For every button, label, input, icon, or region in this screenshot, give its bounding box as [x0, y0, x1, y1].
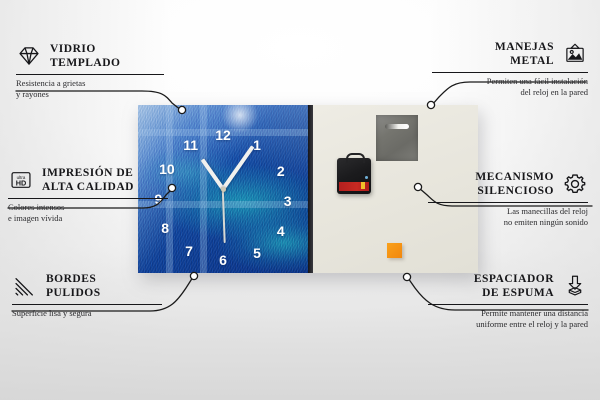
- clock-hour-hand: [201, 158, 225, 190]
- callout-divider: [432, 72, 588, 73]
- callout-title: IMPRESIÓN DE ALTA CALIDAD: [42, 166, 134, 195]
- movement-indicator-dot: [365, 176, 368, 179]
- hanger-slot: [385, 124, 409, 129]
- leader-endpoint-bordes: [190, 272, 197, 279]
- callout-subtitle: Permiten una fácil instalación del reloj…: [432, 76, 588, 99]
- polished-edge-lines-icon: [12, 273, 38, 299]
- callout-subtitle: Las manecillas del reloj no emiten ningú…: [428, 206, 588, 229]
- diamond-icon: [16, 43, 42, 69]
- callout-divider: [8, 198, 168, 199]
- callout-divider: [428, 202, 588, 203]
- movement-label: [339, 182, 369, 191]
- product-image: 12 1 2 3 4 5 6 7 8 9 10 11: [138, 105, 478, 273]
- callout-espaciador-de-espuma: ESPACIADOR DE ESPUMA Permite mantener un…: [428, 272, 588, 331]
- callout-divider: [428, 304, 588, 305]
- callout-mecanismo-silencioso: MECANISMO SILENCIOSO Las manecillas del …: [428, 170, 588, 229]
- callout-title: BORDES PULIDOS: [46, 272, 101, 301]
- infographic-canvas: 12 1 2 3 4 5 6 7 8 9 10 11: [0, 0, 600, 400]
- movement-label-mark: [361, 182, 365, 189]
- callout-impresion-alta-calidad: ultra HD IMPRESIÓN DE ALTA CALIDAD Color…: [8, 166, 168, 225]
- svg-text:HD: HD: [16, 179, 27, 188]
- clock-movement: [337, 158, 371, 194]
- metal-hanger-plate: [376, 115, 418, 161]
- callout-bordes-pulidos: BORDES PULIDOS Superficie lisa y segura: [12, 272, 162, 319]
- clock-second-hand: [222, 189, 225, 243]
- callout-manejas-metal: MANEJAS METAL Permiten una fácil instala…: [432, 40, 588, 99]
- callout-title: MECANISMO SILENCIOSO: [475, 170, 554, 199]
- press-down-pad-icon: [562, 273, 588, 299]
- leader-endpoint-espaciador: [403, 273, 410, 280]
- foam-spacer: [387, 243, 402, 258]
- callout-divider: [12, 304, 162, 305]
- callout-divider: [16, 74, 164, 75]
- framed-picture-hanger-icon: [562, 41, 588, 67]
- callout-subtitle: Superficie lisa y segura: [12, 308, 162, 319]
- clock-minute-hand: [221, 145, 254, 190]
- ultra-hd-badge-icon: ultra HD: [8, 167, 34, 193]
- callout-title: MANEJAS METAL: [495, 40, 554, 69]
- callout-vidrio-templado: VIDRIO TEMPLADO Resistencia a grietas y …: [16, 42, 164, 101]
- callout-title: ESPACIADOR DE ESPUMA: [474, 272, 554, 301]
- clock-center-cap: [221, 187, 226, 192]
- callout-subtitle: Permite mantener una distancia uniforme …: [428, 308, 588, 331]
- callout-subtitle: Resistencia a grietas y rayones: [16, 78, 164, 101]
- movement-hanging-loop: [346, 153, 365, 163]
- callout-subtitle: Colores intensos e imagen vívida: [8, 202, 168, 225]
- gear-icon: [562, 171, 588, 197]
- callout-title: VIDRIO TEMPLADO: [50, 42, 120, 71]
